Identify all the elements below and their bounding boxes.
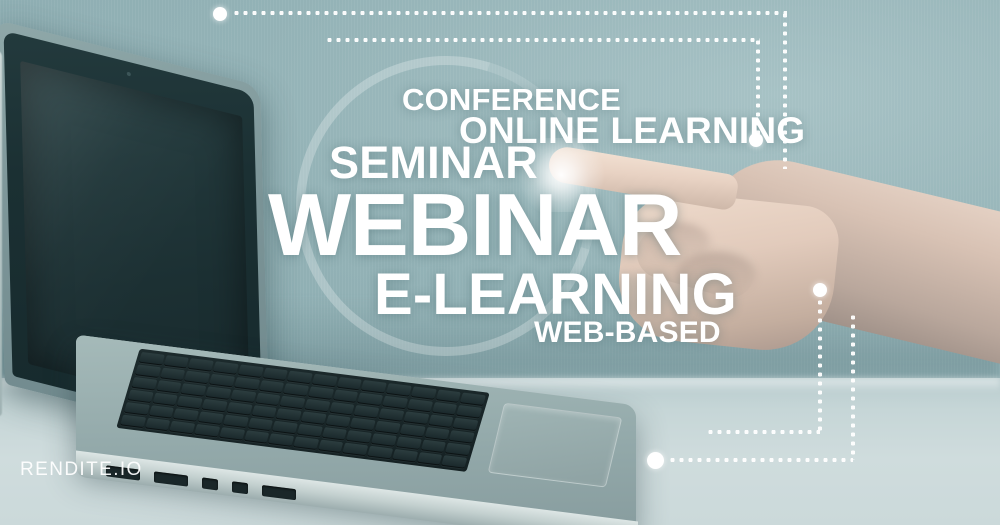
keyword-webinar: WEBINAR [268,181,681,269]
dotted-line-vertical [783,11,787,169]
dotted-path-node [813,283,827,297]
banner-image: CONFERENCE ONLINE LEARNING SEMINAR WEBIN… [0,0,1000,525]
dotted-path-node [749,133,763,147]
keyword-web-based: WEB-BASED [534,318,721,348]
dotted-line-horizontal [668,458,853,462]
dotted-path-node [213,7,227,21]
dotted-line-vertical [756,38,760,134]
port-icon [202,477,218,490]
dotted-line-horizontal [706,430,820,434]
port-icon [232,481,248,494]
dotted-line-horizontal [232,11,787,15]
dotted-line-vertical [818,298,822,433]
dotted-line-horizontal [325,38,760,42]
laptop-trackpad [488,403,623,488]
dotted-line-vertical [851,313,855,460]
webcam-icon [127,72,131,77]
port-icon [262,485,296,500]
dotted-path-node [647,452,664,469]
watermark-text: RENDITE.IO [20,459,143,481]
port-icon [154,471,188,486]
laptop-lid-rim [0,49,2,418]
